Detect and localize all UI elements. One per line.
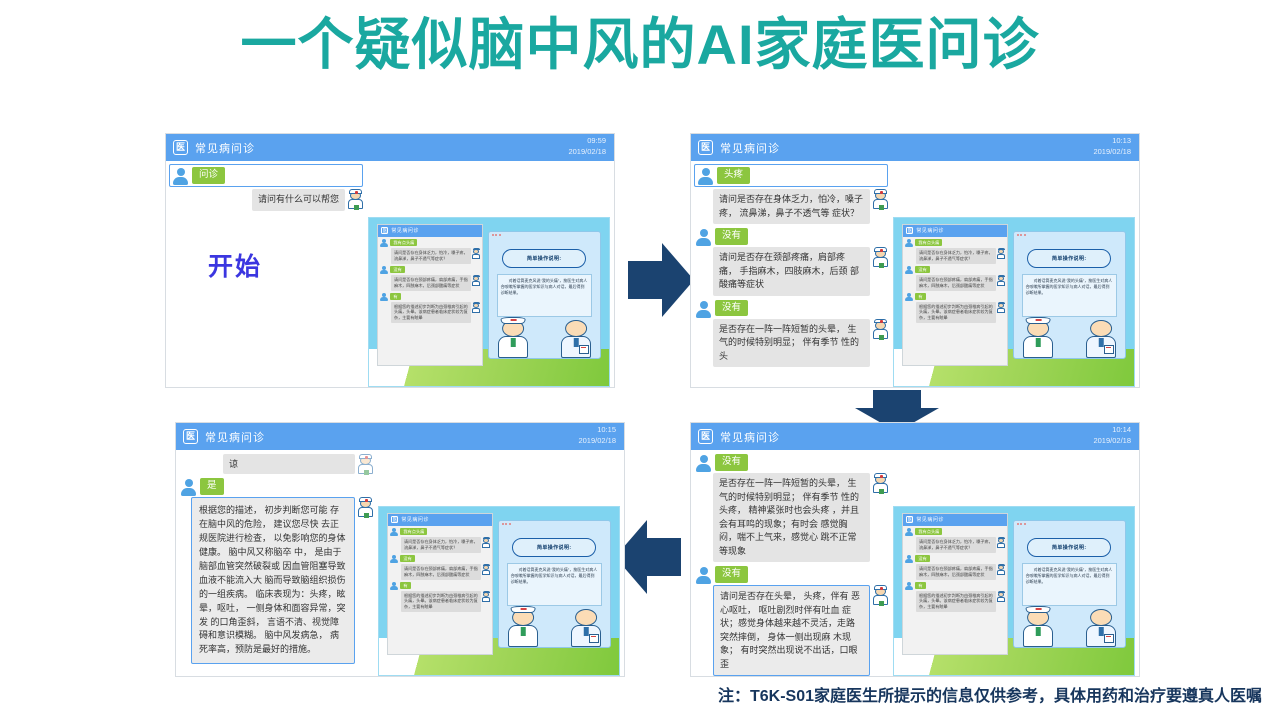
clinic-logo-icon: 医 xyxy=(906,516,913,523)
bot-message: 请问有什么可以帮您 xyxy=(188,189,364,211)
bot-bubble: 请问是否存在颈部疼痛，肩部疼痛，手指麻木，四肢麻木，后颈部酸痛等症状 xyxy=(916,564,996,580)
nested-phone-chat: 医 常见病问诊 我有点头痛 请问是否存在身体乏力，怕冷，嗓子疼，流鼻涕，鼻子不透… xyxy=(387,513,493,655)
panel-header: 医 常见病问诊 10:15 2019/02/18 xyxy=(176,423,624,450)
doctor-figure-right xyxy=(568,606,606,647)
instruction-text: 对着话筒麦克风说“我的头痛”，按医生对病人合咳嗽所掌握的医学知识与病人对话，最后… xyxy=(1026,567,1113,586)
user-bubble: 没有 xyxy=(915,555,929,562)
user-avatar-icon xyxy=(695,300,712,317)
user-bubble: 没有 xyxy=(715,566,748,583)
panel-date: 2019/02/18 xyxy=(578,436,616,447)
instruction-title: 简单操作说明: xyxy=(1052,544,1086,551)
bot-bubble: 请问是否存在身体乏力，怕冷，嗓子疼， 流鼻涕，鼻子不透气等 症状？ xyxy=(713,189,870,224)
bot-message-partial: 谅 xyxy=(198,454,374,474)
doctor-avatar-icon xyxy=(872,189,889,209)
chat-message-column: 谅 是 根据您的描述， 初步判断您可能 存在脑中风的危险， 建议您尽快 去正规医… xyxy=(176,450,376,676)
panel-header: 医 常见病问诊 10:13 2019/02/18 xyxy=(691,134,1139,161)
bot-bubble: 请问是否存在身体乏力，怕冷，嗓子疼，流鼻涕，鼻子不透气等症状？ xyxy=(391,248,471,264)
chat-message-column: 头疼 请问是否存在身体乏力，怕冷，嗓子疼， 流鼻涕，鼻子不透气等 症状？ 没有 … xyxy=(691,161,891,387)
nested-user-row: 我有点头痛 xyxy=(905,528,1007,536)
doctor-avatar-icon xyxy=(357,454,374,474)
nested-screenshot: 医 常见病问诊 我有点头痛 请问是否存在身体乏力，怕冷，嗓子疼，流鼻涕，鼻子不透… xyxy=(893,506,1135,676)
bot-bubble: 谅 xyxy=(223,454,355,474)
doctor-avatar-icon xyxy=(872,319,889,339)
chat-message-column: 问诊 请问有什么可以帮您 开始 xyxy=(166,161,366,387)
doctor-avatar-icon xyxy=(997,248,1006,259)
panel-time: 09:59 xyxy=(568,136,606,147)
user-bubble: 问诊 xyxy=(192,167,225,184)
user-avatar-icon xyxy=(905,528,913,536)
nested-phone-chat: 医 常见病问诊 我有点头痛 请问是否存在身体乏力，怕冷，嗓子疼，流鼻涕，鼻子不透… xyxy=(377,224,483,366)
bot-bubble: 请问是否存在颈部疼痛，肩部疼 痛， 手指麻木，四肢麻木，后颈 部酸痛等症状 xyxy=(713,247,870,296)
panel-timestamp: 10:14 2019/02/18 xyxy=(1093,425,1131,447)
nested-title: 常见病问诊 xyxy=(401,516,429,523)
instruction-text: 对着话筒麦克风说“我的头痛”，按医生对病人合咳嗽所掌握的医学知识与病人对话，最后… xyxy=(501,278,588,297)
page-title: 一个疑似脑中风的AI家庭医问诊 xyxy=(0,14,1280,76)
panel-time: 10:13 xyxy=(1093,136,1131,147)
nested-screenshot: 医 常见病问诊 我有点头痛 请问是否存在身体乏力，怕冷，嗓子疼，流鼻涕，鼻子不透… xyxy=(378,506,620,676)
bot-bubble: 请问有什么可以帮您 xyxy=(252,189,345,211)
window-dots-icon xyxy=(1017,523,1026,525)
doctor-figure-right xyxy=(1083,606,1121,647)
doctor-avatar-icon xyxy=(347,189,364,209)
panel-header: 医 常见病问诊 09:59 2019/02/18 xyxy=(166,134,614,161)
panel-symptoms[interactable]: 医 常见病问诊 10:14 2019/02/18 没有 是否存在一阵一阵短暂的头… xyxy=(690,422,1140,677)
user-bubble: 有 xyxy=(390,293,400,300)
doctor-avatar-icon xyxy=(997,537,1006,548)
panel-date: 2019/02/18 xyxy=(1093,436,1131,447)
instruction-text-box: 对着话筒麦克风说“我的头痛”，按医生对病人合咳嗽所掌握的医学知识与病人对话，最后… xyxy=(1022,563,1117,606)
doctor-avatar-icon xyxy=(482,537,491,548)
doctor-avatar-icon xyxy=(872,585,889,605)
nested-user-row: 有 xyxy=(905,293,1007,301)
user-bubble: 有 xyxy=(400,582,410,589)
nested-screenshot: 医 常见病问诊 我有点头痛 请问是否存在身体乏力，怕冷，嗓子疼，流鼻涕，鼻子不透… xyxy=(368,217,610,387)
user-bubble: 没有 xyxy=(715,228,748,245)
bot-message: 请问是否存在颈部疼痛，肩部疼 痛， 手指麻木，四肢麻木，后颈 部酸痛等症状 xyxy=(713,247,889,296)
nested-user-row: 有 xyxy=(905,582,1007,590)
nested-bot-row: 根据您的描述初步判断为由颈椎病引起的头痛，头晕。该病症患者临床症状较为复杂，主要… xyxy=(388,302,481,324)
bot-bubble: 是否存在一阵一阵短暂的头晕， 生气的时候特别明显； 伴有季节 性的头 xyxy=(713,319,870,368)
doctor-avatar-icon xyxy=(872,473,889,493)
panel-time: 10:15 xyxy=(578,425,616,436)
nested-user-row: 没有 xyxy=(380,266,482,274)
instruction-title-pill: 简单操作说明: xyxy=(512,538,596,557)
nested-bot-row: 请问是否存在身体乏力，怕冷，嗓子疼，流鼻涕，鼻子不透气等症状？ xyxy=(913,248,1006,264)
arrow-right-top xyxy=(628,243,694,317)
user-message: 是 xyxy=(180,478,376,495)
user-message-input[interactable]: 问诊 xyxy=(169,164,363,187)
bot-bubble: 请问是否存在身体乏力，怕冷，嗓子疼，流鼻涕，鼻子不透气等症状？ xyxy=(916,248,996,264)
user-bubble: 没有 xyxy=(915,266,929,273)
user-avatar-icon xyxy=(390,555,398,563)
user-message: 没有 xyxy=(695,300,891,317)
panel-start[interactable]: 医 常见病问诊 09:59 2019/02/18 问诊 请问有什么可以帮您 开始 xyxy=(165,133,615,388)
bot-bubble: 请问是否存在头晕， 头疼，伴有 恶心呕吐， 呕吐剧烈时伴有吐血 症状；感觉身体越… xyxy=(713,585,870,676)
nested-bot-row: 根据您的描述初步判断为由颈椎病引起的头痛，头晕。该病症患者临床症状较为复杂，主要… xyxy=(913,591,1006,613)
nested-bot-row: 请问是否存在颈部疼痛，肩部疼痛，手指麻木，四肢麻木，后颈部酸痛等症状 xyxy=(388,275,481,291)
nested-bot-row: 请问是否存在身体乏力，怕冷，嗓子疼，流鼻涕，鼻子不透气等症状？ xyxy=(913,537,1006,553)
doctor-figure-left xyxy=(1019,606,1057,647)
nested-user-row: 我有点头痛 xyxy=(905,239,1007,247)
doctor-avatar-icon xyxy=(997,591,1006,602)
doctor-illustration xyxy=(1014,604,1125,647)
bot-message: 是否存在一阵一阵短暂的头晕， 生气的时候特别明显； 伴有季节 性的头 xyxy=(713,319,889,368)
bot-bubble: 根据您的描述初步判断为由颈椎病引起的头痛，头晕。该病症患者临床症状较为复杂，主要… xyxy=(916,302,996,324)
bot-bubble: 请问是否存在颈部疼痛，肩部疼痛，手指麻木，四肢麻木，后颈部酸痛等症状 xyxy=(401,564,481,580)
nested-phone-chat: 医 常见病问诊 我有点头痛 请问是否存在身体乏力，怕冷，嗓子疼，流鼻涕，鼻子不透… xyxy=(902,513,1008,655)
panel-headache[interactable]: 医 常见病问诊 10:13 2019/02/18 头疼 请问是否存在身体乏力，怕… xyxy=(690,133,1140,388)
clinic-logo-icon: 医 xyxy=(381,227,388,234)
user-bubble: 我有点头痛 xyxy=(400,528,427,535)
bot-message-highlighted: 请问是否存在头晕， 头疼，伴有 恶心呕吐， 呕吐剧烈时伴有吐血 症状；感觉身体越… xyxy=(713,585,889,676)
instruction-text-box: 对着话筒麦克风说“我的头痛”，按医生对病人合咳嗽所掌握的医学知识与病人对话，最后… xyxy=(497,274,592,317)
instruction-title-pill: 简单操作说明: xyxy=(1027,538,1111,557)
doctor-avatar-icon xyxy=(472,275,481,286)
user-bubble: 我有点头痛 xyxy=(390,239,417,246)
user-avatar-icon xyxy=(172,167,189,184)
instruction-card: 简单操作说明: 对着话筒麦克风说“我的头痛”，按医生对病人合咳嗽所掌握的医学知识… xyxy=(1013,520,1126,648)
nested-user-row: 没有 xyxy=(905,555,1007,563)
user-bubble: 有 xyxy=(915,293,925,300)
user-avatar-icon xyxy=(905,555,913,563)
nested-bot-row: 请问是否存在颈部疼痛，肩部疼痛，手指麻木，四肢麻木，后颈部酸痛等症状 xyxy=(913,275,1006,291)
user-avatar-icon xyxy=(390,582,398,590)
doctor-avatar-icon xyxy=(357,497,374,517)
clinic-logo-icon: 医 xyxy=(698,429,713,444)
chat-body: 问诊 请问有什么可以帮您 开始 医 常见病问诊 我有点头痛 xyxy=(166,161,614,387)
chat-body: 头疼 请问是否存在身体乏力，怕冷，嗓子疼， 流鼻涕，鼻子不透气等 症状？ 没有 … xyxy=(691,161,1139,387)
nested-user-row: 我有点头痛 xyxy=(390,528,492,536)
nested-title: 常见病问诊 xyxy=(916,516,944,523)
user-avatar-icon xyxy=(905,266,913,274)
doctor-illustration xyxy=(489,315,600,358)
nested-header: 医 常见病问诊 xyxy=(378,225,482,237)
panel-date: 2019/02/18 xyxy=(1093,147,1131,158)
clinic-logo-icon: 医 xyxy=(173,140,188,155)
nested-user-row: 有 xyxy=(390,582,492,590)
user-bubble: 没有 xyxy=(715,300,748,317)
panel-timestamp: 10:15 2019/02/18 xyxy=(578,425,616,447)
instruction-text: 对着话筒麦克风说“我的头痛”，按医生对病人合咳嗽所掌握的医学知识与病人对话，最后… xyxy=(511,567,598,586)
bot-bubble: 请问是否存在身体乏力，怕冷，嗓子疼，流鼻涕，鼻子不透气等症状？ xyxy=(401,537,481,553)
doctor-illustration xyxy=(1014,315,1125,358)
nested-user-row: 我有点头痛 xyxy=(380,239,482,247)
bot-bubble: 请问是否存在颈部疼痛，肩部疼痛，手指麻木，四肢麻木，后颈部酸痛等症状 xyxy=(391,275,471,291)
user-message-input[interactable]: 头疼 xyxy=(694,164,888,187)
nested-title: 常见病问诊 xyxy=(391,227,419,234)
nested-bot-row: 请问是否存在颈部疼痛，肩部疼痛，手指麻木，四肢麻木，后颈部酸痛等症状 xyxy=(913,564,1006,580)
user-avatar-icon xyxy=(390,528,398,536)
bot-message: 是否存在一阵一阵短暂的头晕， 生气的时候特别明显； 伴有季节 性的头疼， 精神紧… xyxy=(713,473,889,562)
nested-user-row: 没有 xyxy=(905,266,1007,274)
doctor-avatar-icon xyxy=(472,248,481,259)
user-avatar-icon xyxy=(905,582,913,590)
user-bubble: 是 xyxy=(200,478,224,495)
bot-bubble: 根据您的描述， 初步判断您可能 存在脑中风的危险， 建议您尽快 去正规医院进行检… xyxy=(191,497,355,664)
user-avatar-icon xyxy=(695,566,712,583)
user-avatar-icon xyxy=(697,167,714,184)
user-bubble: 没有 xyxy=(390,266,404,273)
window-dots-icon xyxy=(1017,234,1026,236)
nested-bot-row: 根据您的描述初步判断为由颈椎病引起的头痛，头晕。该病症患者临床症状较为复杂，主要… xyxy=(398,591,491,613)
clinic-logo-icon: 医 xyxy=(183,429,198,444)
instruction-text: 对着话筒麦克风说“我的头痛”，按医生对病人合咳嗽所掌握的医学知识与病人对话，最后… xyxy=(1026,278,1113,297)
doctor-avatar-icon xyxy=(482,564,491,575)
bot-bubble: 请问是否存在颈部疼痛，肩部疼痛，手指麻木，四肢麻木，后颈部酸痛等症状 xyxy=(916,275,996,291)
nested-header: 医 常见病问诊 xyxy=(903,514,1007,526)
instruction-card: 简单操作说明: 对着话筒麦克风说“我的头痛”，按医生对病人合咳嗽所掌握的医学知识… xyxy=(1013,231,1126,359)
nested-bot-row: 请问是否存在颈部疼痛，肩部疼痛，手指麻木，四肢麻木，后颈部酸痛等症状 xyxy=(398,564,491,580)
panel-date: 2019/02/18 xyxy=(568,147,606,158)
nested-phone-chat: 医 常见病问诊 我有点头痛 请问是否存在身体乏力，怕冷，嗓子疼，流鼻涕，鼻子不透… xyxy=(902,224,1008,366)
doctor-figure-left xyxy=(1019,317,1057,358)
user-avatar-icon xyxy=(695,454,712,471)
panel-time: 10:14 xyxy=(1093,425,1131,436)
instruction-title-pill: 简单操作说明: xyxy=(502,249,586,268)
user-avatar-icon xyxy=(905,293,913,301)
user-message: 没有 xyxy=(695,228,891,245)
panel-title: 常见病问诊 xyxy=(720,429,780,445)
doctor-avatar-icon xyxy=(997,302,1006,313)
user-bubble: 没有 xyxy=(400,555,414,562)
instruction-title: 简单操作说明: xyxy=(537,544,571,551)
doctor-avatar-icon xyxy=(482,591,491,602)
bot-message-highlighted: 根据您的描述， 初步判断您可能 存在脑中风的危险， 建议您尽快 去正规医院进行检… xyxy=(184,497,374,664)
window-dots-icon xyxy=(502,523,511,525)
nested-user-row: 有 xyxy=(380,293,482,301)
panel-title: 常见病问诊 xyxy=(195,140,255,156)
chat-body: 谅 是 根据您的描述， 初步判断您可能 存在脑中风的危险， 建议您尽快 去正规医… xyxy=(176,450,624,676)
user-avatar-icon xyxy=(695,228,712,245)
instruction-title-pill: 简单操作说明: xyxy=(1027,249,1111,268)
nested-bot-row: 请问是否存在身体乏力，怕冷，嗓子疼，流鼻涕，鼻子不透气等症状？ xyxy=(398,537,491,553)
nested-user-row: 没有 xyxy=(390,555,492,563)
bot-bubble: 根据您的描述初步判断为由颈椎病引起的头痛，头晕。该病症患者临床症状较为复杂，主要… xyxy=(401,591,481,613)
user-bubble: 我有点头痛 xyxy=(915,528,942,535)
doctor-avatar-icon xyxy=(997,564,1006,575)
user-bubble: 没有 xyxy=(715,454,748,471)
bot-bubble: 根据您的描述初步判断为由颈椎病引起的头痛，头晕。该病症患者临床症状较为复杂，主要… xyxy=(916,591,996,613)
nested-screenshot: 医 常见病问诊 我有点头痛 请问是否存在身体乏力，怕冷，嗓子疼，流鼻涕，鼻子不透… xyxy=(893,217,1135,387)
instruction-title: 简单操作说明: xyxy=(527,255,561,262)
chat-message-column: 没有 是否存在一阵一阵短暂的头晕， 生气的时候特别明显； 伴有季节 性的头疼， … xyxy=(691,450,891,676)
clinic-logo-icon: 医 xyxy=(906,227,913,234)
instruction-text-box: 对着话筒麦克风说“我的头痛”，按医生对病人合咳嗽所掌握的医学知识与病人对话，最后… xyxy=(1022,274,1117,317)
start-label: 开始 xyxy=(208,247,262,283)
panel-diagnosis[interactable]: 医 常见病问诊 10:15 2019/02/18 谅 是 根据您的描述， 初步判… xyxy=(175,422,625,677)
nested-header: 医 常见病问诊 xyxy=(388,514,492,526)
doctor-figure-right xyxy=(1083,317,1121,358)
user-avatar-icon xyxy=(380,266,388,274)
instruction-text-box: 对着话筒麦克风说“我的头痛”，按医生对病人合咳嗽所掌握的医学知识与病人对话，最后… xyxy=(507,563,602,606)
panel-header: 医 常见病问诊 10:14 2019/02/18 xyxy=(691,423,1139,450)
doctor-figure-right xyxy=(558,317,596,358)
user-avatar-icon xyxy=(905,239,913,247)
nested-bot-row: 根据您的描述初步判断为由颈椎病引起的头痛，头晕。该病症患者临床症状较为复杂，主要… xyxy=(913,302,1006,324)
doctor-avatar-icon xyxy=(472,302,481,313)
chat-body: 没有 是否存在一阵一阵短暂的头晕， 生气的时候特别明显； 伴有季节 性的头疼， … xyxy=(691,450,1139,676)
instruction-card: 简单操作说明: 对着话筒麦克风说“我的头痛”，按医生对病人合咳嗽所掌握的医学知识… xyxy=(488,231,601,359)
bot-bubble: 请问是否存在身体乏力，怕冷，嗓子疼，流鼻涕，鼻子不透气等症状？ xyxy=(916,537,996,553)
panel-timestamp: 09:59 2019/02/18 xyxy=(568,136,606,158)
panel-title: 常见病问诊 xyxy=(720,140,780,156)
user-message: 没有 xyxy=(695,454,891,471)
clinic-logo-icon: 医 xyxy=(698,140,713,155)
doctor-figure-left xyxy=(494,317,532,358)
user-bubble: 我有点头痛 xyxy=(915,239,942,246)
user-avatar-icon xyxy=(380,239,388,247)
bot-message: 请问是否存在身体乏力，怕冷，嗓子疼， 流鼻涕，鼻子不透气等 症状？ xyxy=(713,189,889,224)
footer-note: 注：T6K-S01家庭医生所提示的信息仅供参考，具体用药和治疗要遵真人医嘱 xyxy=(0,682,1262,706)
user-bubble: 有 xyxy=(915,582,925,589)
doctor-illustration xyxy=(499,604,610,647)
instruction-card: 简单操作说明: 对着话筒麦克风说“我的头痛”，按医生对病人合咳嗽所掌握的医学知识… xyxy=(498,520,611,648)
user-bubble: 头疼 xyxy=(717,167,750,184)
nested-title: 常见病问诊 xyxy=(916,227,944,234)
user-message: 没有 xyxy=(695,566,891,583)
nested-bot-row: 请问是否存在身体乏力，怕冷，嗓子疼，流鼻涕，鼻子不透气等症状？ xyxy=(388,248,481,264)
window-dots-icon xyxy=(492,234,501,236)
user-avatar-icon xyxy=(180,478,197,495)
nested-header: 医 常见病问诊 xyxy=(903,225,1007,237)
clinic-logo-icon: 医 xyxy=(391,516,398,523)
doctor-figure-left xyxy=(504,606,542,647)
doctor-avatar-icon xyxy=(872,247,889,267)
doctor-avatar-icon xyxy=(997,275,1006,286)
panel-timestamp: 10:13 2019/02/18 xyxy=(1093,136,1131,158)
panel-title: 常见病问诊 xyxy=(205,429,265,445)
bot-bubble: 是否存在一阵一阵短暂的头晕， 生气的时候特别明显； 伴有季节 性的头疼， 精神紧… xyxy=(713,473,870,562)
instruction-title: 简单操作说明: xyxy=(1052,255,1086,262)
user-avatar-icon xyxy=(380,293,388,301)
bot-bubble: 根据您的描述初步判断为由颈椎病引起的头痛，头晕。该病症患者临床症状较为复杂，主要… xyxy=(391,302,471,324)
